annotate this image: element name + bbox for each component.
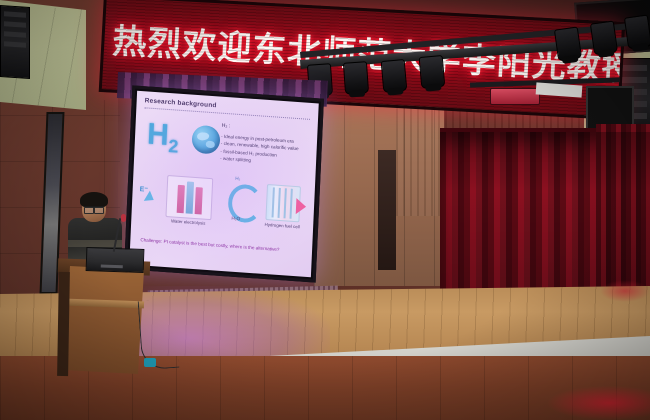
- caption-h2: H₂: [235, 176, 240, 181]
- red-light-spill: [548, 386, 650, 420]
- caption-h2o: H₂O: [231, 216, 240, 222]
- floor-indicator-light: [144, 358, 156, 367]
- side-door: [378, 150, 396, 270]
- projection-screen: Research background H2 H₂ : - Ideal ener…: [124, 85, 324, 282]
- slide-surface: Research background H2 H₂ : - Ideal ener…: [129, 91, 319, 278]
- stage-light-3: [381, 59, 408, 93]
- podium-leg: [57, 272, 70, 376]
- curtain-shading: [440, 132, 650, 300]
- stage-light-5: [554, 26, 582, 61]
- electron-label-left: E⁻: [139, 185, 148, 194]
- slide-title-rule: [144, 107, 310, 120]
- caption-hydrogen-fuel-cell: Hydrogen fuel cell: [259, 222, 305, 230]
- ceiling-projector: [490, 88, 540, 105]
- electrode-bar-1: [177, 185, 185, 213]
- stage-light-7: [624, 14, 650, 49]
- wall-speaker-left-icon: [0, 5, 30, 79]
- laptop: [86, 247, 145, 273]
- auditorium-lecture-photo: 热烈欢迎东北师范大学李阳光教授来校交流 Research background …: [0, 0, 650, 420]
- podium: [64, 266, 144, 374]
- h2o-logo: H2: [146, 118, 212, 164]
- slide-process-diagram: E⁻ Water electrolysis H₂ H₂O Hydrogen fu…: [135, 169, 313, 243]
- electrode-bar-3: [195, 187, 203, 214]
- h2o-logo-2: 2: [168, 136, 179, 157]
- h2o-logo-h: H: [146, 118, 169, 152]
- stage-light-4: [419, 55, 446, 89]
- arrow-pink-icon: [296, 198, 307, 215]
- red-light-spill-upper: [600, 280, 650, 302]
- stage-light-2: [343, 61, 369, 95]
- water-globe-icon: [191, 125, 220, 155]
- glasses-icon: [84, 206, 104, 212]
- electrode-bar-2: [186, 181, 194, 213]
- stage-light-6: [590, 20, 618, 55]
- electrolysis-cell: [165, 175, 213, 220]
- microphone-head-icon: [121, 214, 126, 222]
- slide-bullet-list: H₂ : - Ideal energy in post-petroleum er…: [220, 123, 316, 169]
